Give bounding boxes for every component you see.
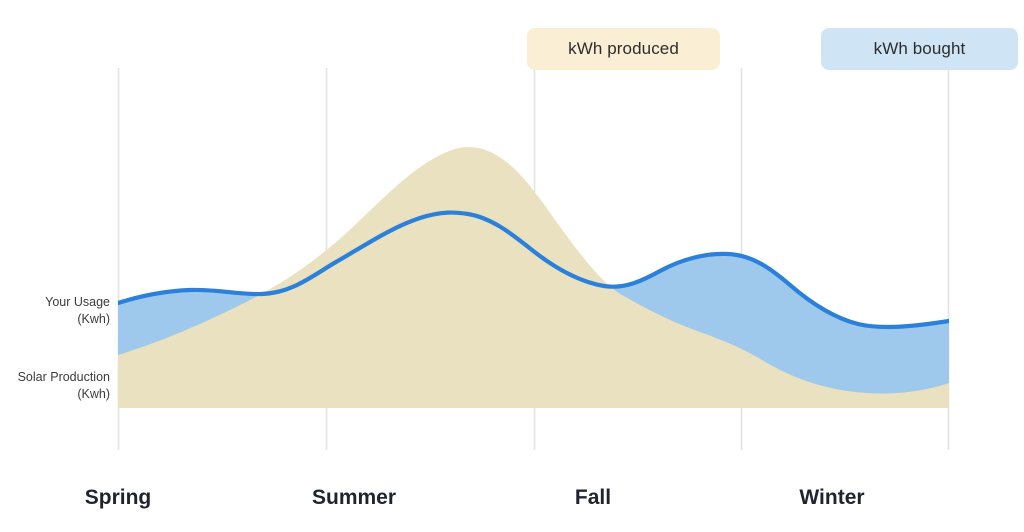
- legend-kwh-bought[interactable]: kWh bought: [821, 28, 1018, 70]
- legend-produced-label: kWh produced: [568, 39, 679, 59]
- x-axis-label-winter: Winter: [762, 486, 902, 510]
- legend-bought-label: kWh bought: [874, 39, 966, 59]
- x-axis-label-fall: Fall: [523, 486, 663, 510]
- your-usage-unit: (Kwh): [0, 311, 110, 328]
- x-axis-label-spring: Spring: [48, 486, 188, 510]
- legend-kwh-produced[interactable]: kWh produced: [527, 28, 720, 70]
- x-axis-label-summer: Summer: [284, 486, 424, 510]
- solar-production-name: Solar Production: [18, 370, 110, 384]
- solar-usage-chart: kWh produced kWh bought Your Usage (Kwh)…: [0, 0, 1024, 532]
- axis-label-your-usage: Your Usage (Kwh): [0, 294, 110, 328]
- axis-label-solar-production: Solar Production (Kwh): [0, 369, 110, 403]
- solar-production-unit: (Kwh): [0, 386, 110, 403]
- your-usage-name: Your Usage: [45, 295, 110, 309]
- chart-plot-area: [0, 0, 1024, 532]
